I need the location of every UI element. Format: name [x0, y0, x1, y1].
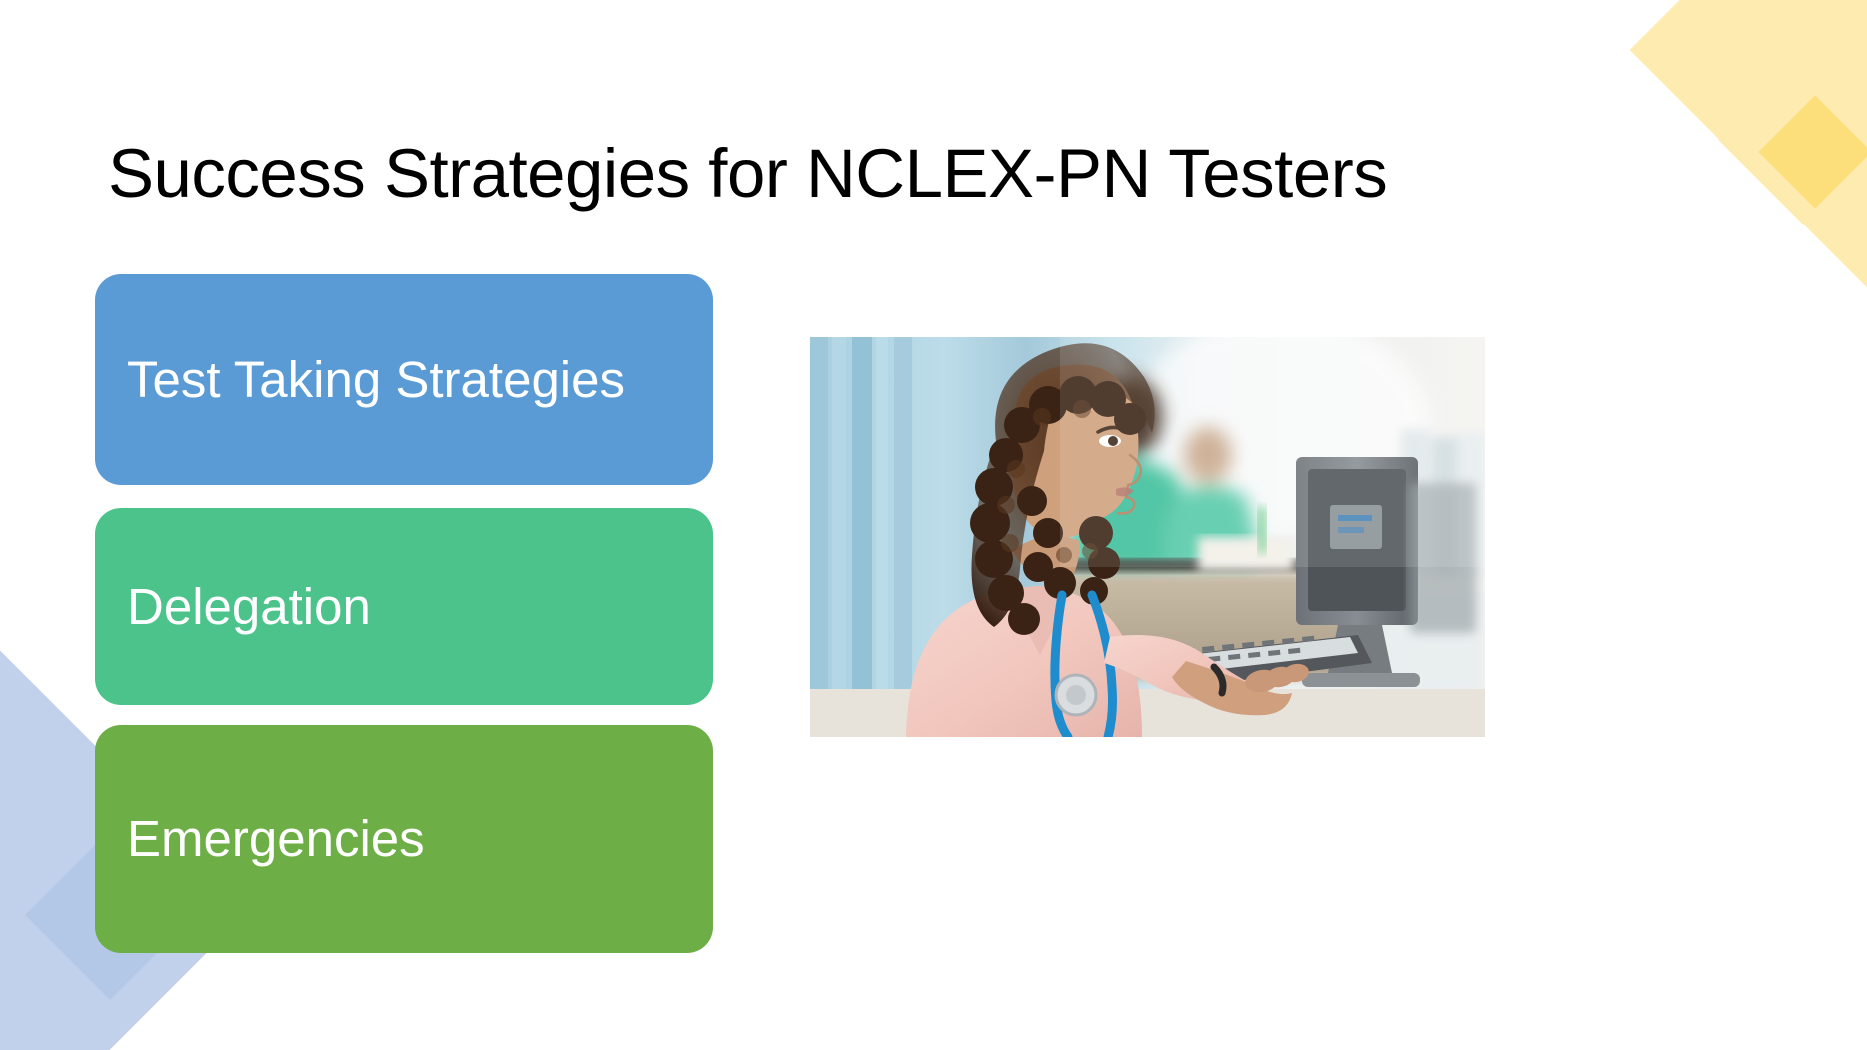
card-label-test-taking-strategies: Test Taking Strategies — [127, 350, 625, 409]
yellow-diamond-large-icon — [1630, 0, 1867, 290]
yellow-diamond-small-icon — [1758, 95, 1867, 208]
yellow-diamond-medium-icon — [1718, 55, 1867, 225]
nurse-at-computer-photo — [810, 337, 1485, 737]
photo-artwork — [810, 337, 1485, 737]
card-label-emergencies: Emergencies — [127, 809, 425, 868]
topic-card-list: Test Taking Strategies Delegation Emerge… — [95, 274, 713, 954]
card-label-delegation: Delegation — [127, 577, 371, 636]
card-test-taking-strategies[interactable]: Test Taking Strategies — [95, 274, 713, 485]
card-delegation[interactable]: Delegation — [95, 508, 713, 705]
presentation-slide: Success Strategies for NCLEX-PN Testers … — [0, 0, 1867, 1050]
card-emergencies[interactable]: Emergencies — [95, 725, 713, 953]
slide-title: Success Strategies for NCLEX-PN Testers — [108, 136, 1608, 212]
